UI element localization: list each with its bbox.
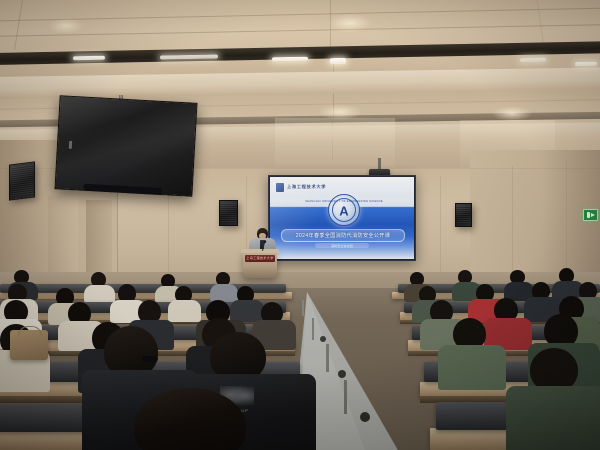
chair-caster (360, 412, 370, 422)
tv-screen-reflection (56, 96, 197, 195)
tv-power-led-icon (69, 141, 72, 149)
ceiling-downlight-glow (48, 18, 84, 34)
ceiling-strip-light (272, 57, 308, 62)
eyeglasses-icon (142, 356, 158, 362)
running-man-icon (587, 212, 590, 218)
person-body (230, 300, 264, 322)
podium-banner: 上海工程技术大学 (245, 255, 275, 262)
projection-screen: 上海工程技术大学 SHANGHAI UNIVERSITY OF ENGINEER… (268, 175, 416, 261)
ceiling-strip-light (330, 58, 346, 64)
lecture-hall-photo: 上海工程技术大学 SHANGHAI UNIVERSITY OF ENGINEER… (0, 0, 600, 450)
podium: 上海工程技术大学 (243, 252, 277, 278)
wall-seam (440, 176, 441, 286)
ceiling-downlight-glow (328, 14, 372, 32)
ceiling-strip-light (575, 62, 597, 66)
chair-leg (312, 318, 314, 340)
podium-top-surface (241, 249, 279, 253)
exit-arrow-icon (591, 213, 595, 217)
ceiling-strip-light (73, 56, 105, 61)
person-body (84, 285, 115, 303)
chair-leg (344, 380, 347, 414)
person-body (168, 300, 201, 322)
person-body (438, 345, 506, 390)
wall-display-tv (54, 95, 197, 197)
loudspeaker-center (219, 200, 238, 226)
screen-glare (270, 177, 414, 259)
ceiling-strip-light (520, 58, 546, 62)
speaker-grill (221, 203, 236, 223)
loudspeaker-right (455, 203, 472, 227)
ceiling-downlight-glow (492, 106, 532, 121)
emergency-exit-sign (583, 209, 598, 221)
chair-leg (326, 344, 329, 372)
podium-banner-text: 上海工程技术大学 (245, 255, 275, 262)
speaker-grill (457, 206, 470, 224)
handbag-strap (18, 326, 42, 336)
chair-leg (302, 300, 304, 316)
person-body (506, 386, 600, 450)
loudspeaker-left (9, 161, 35, 200)
speaker-grill (11, 165, 33, 198)
wall-seam (246, 176, 247, 252)
chair-caster (338, 370, 346, 378)
person-body (210, 284, 238, 302)
presentation-slide: 上海工程技术大学 SHANGHAI UNIVERSITY OF ENGINEER… (270, 177, 414, 259)
chair-caster (320, 336, 326, 342)
